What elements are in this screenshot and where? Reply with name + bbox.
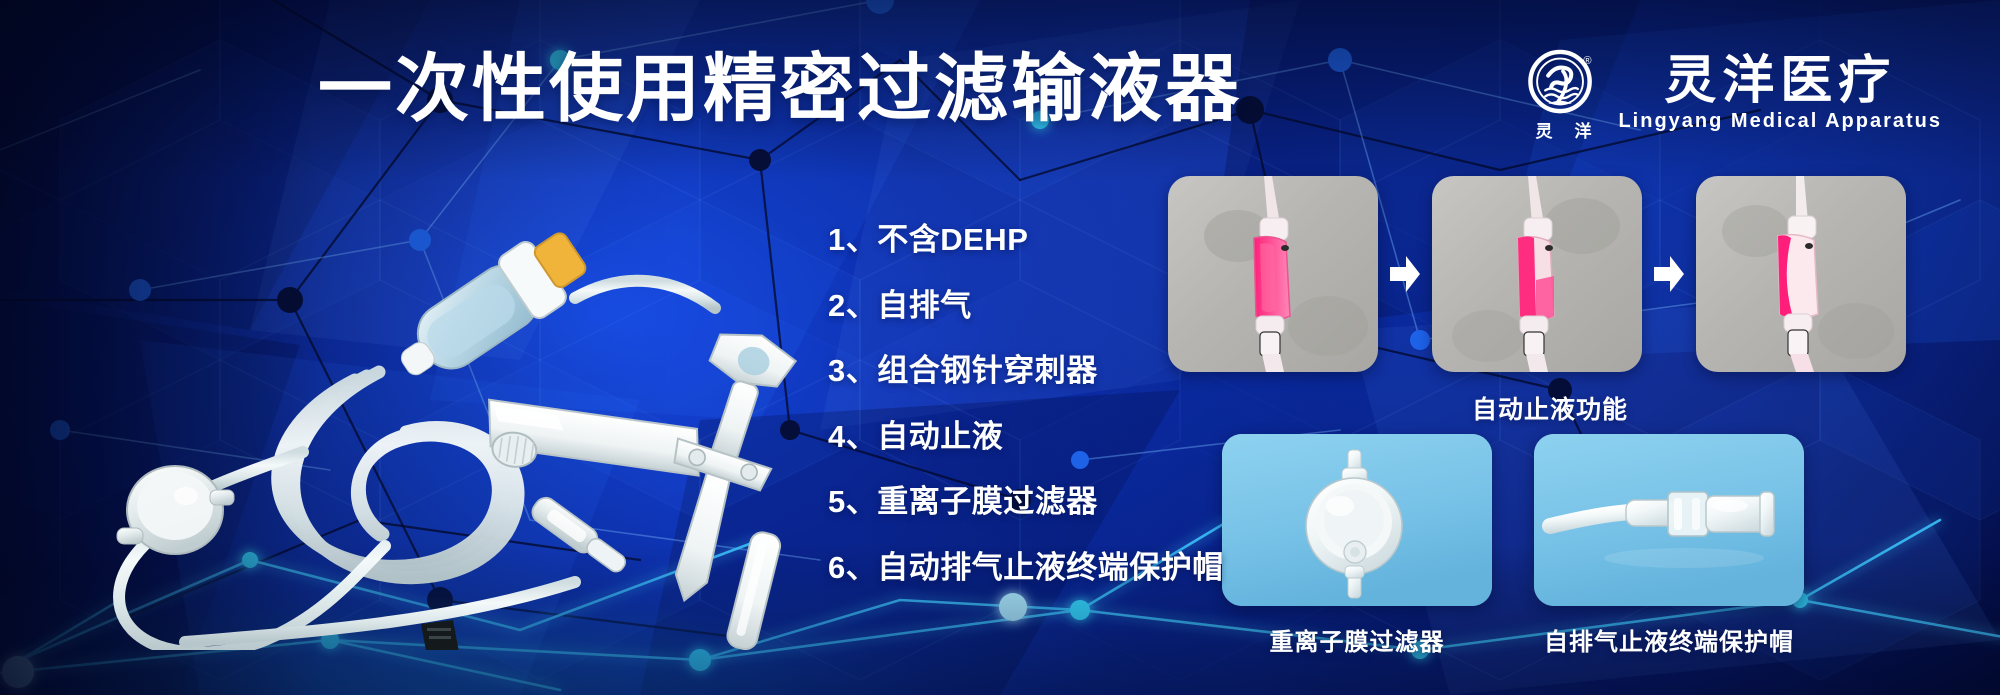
brand-logo: ® 灵 洋 灵洋医疗 Lingyang Medical Apparatus	[1526, 46, 1942, 140]
product-caption-filter: 重离子膜过滤器	[1222, 622, 1492, 657]
feature-list: 1、不含DEHP 2、自排气 3、组合钢针穿刺器 4、自动止液 5、重离子膜过滤…	[828, 222, 1224, 586]
main-title-text: 一次性使用精密过滤输液器	[318, 52, 1242, 126]
emblem-subtitle: 灵 洋	[1535, 123, 1591, 140]
feature-item-6: 6、自动排气止液终端保护帽	[828, 550, 1224, 587]
sequence-arrow-2-slot	[1642, 254, 1696, 294]
brand-name-cn: 灵洋医疗	[1664, 55, 1896, 107]
sequence-caption: 自动止液功能	[1168, 390, 1932, 426]
product-caption-cap: 自排气止液终端保护帽	[1534, 622, 1804, 657]
hero-injection-port-part	[528, 493, 631, 578]
feature-item-4: 4、自动止液	[828, 419, 1224, 456]
sequence-frame-3	[1696, 176, 1906, 372]
emblem-sub-right: 洋	[1574, 123, 1591, 140]
feature-item-3: 3、组合钢针穿刺器	[828, 353, 1224, 390]
product-photo-row	[1222, 434, 1804, 606]
sequence-frame-2	[1432, 176, 1642, 372]
product-photo-cap	[1534, 434, 1804, 606]
brand-name-block: 灵洋医疗 Lingyang Medical Apparatus	[1618, 55, 1942, 131]
hero-protective-sleeve-part	[725, 530, 783, 650]
right-arrow-icon	[1388, 254, 1422, 294]
auto-stop-sequence-row	[1168, 176, 1906, 372]
registered-mark-icon: ®	[1584, 55, 1592, 67]
right-arrow-icon	[1652, 254, 1686, 294]
brand-name-en: Lingyang Medical Apparatus	[1618, 111, 1942, 131]
emblem-block: ® 灵 洋	[1526, 46, 1600, 140]
hero-drip-chamber-part	[384, 220, 596, 397]
emblem-sub-left: 灵	[1535, 123, 1552, 140]
feature-item-2: 2、自排气	[828, 288, 1224, 325]
lingyang-circular-emblem-icon: ®	[1526, 46, 1600, 120]
feature-item-5: 5、重离子膜过滤器	[828, 484, 1224, 521]
feature-item-1: 1、不含DEHP	[828, 222, 1224, 259]
product-photo-filter	[1222, 434, 1492, 606]
hero-label-clip-part	[421, 620, 459, 650]
product-banner: 一次性使用精密过滤输液器 ® 灵 洋	[0, 0, 2000, 695]
sequence-arrow-1-slot	[1378, 254, 1432, 294]
hero-product-photo	[55, 190, 815, 650]
page-title: 一次性使用精密过滤输液器	[318, 52, 1242, 126]
product-caption-row: 重离子膜过滤器 自排气止液终端保护帽	[1222, 622, 1804, 657]
